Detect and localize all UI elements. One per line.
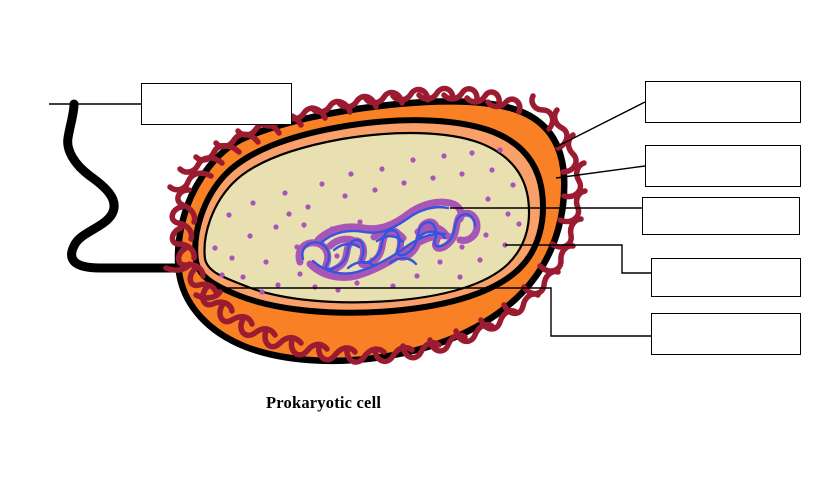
prokaryotic-cell-illustration — [0, 0, 835, 496]
label-box-flagellum[interactable] — [141, 83, 292, 125]
label-box-capsule[interactable] — [645, 145, 801, 187]
label-box-cell-wall[interactable] — [651, 258, 801, 297]
label-box-nucleoid[interactable] — [642, 197, 800, 235]
leader-pili — [556, 102, 645, 147]
label-box-cytoplasm[interactable] — [651, 313, 801, 355]
diagram-canvas: Prokaryotic cell — [0, 0, 835, 496]
label-box-pili[interactable] — [645, 81, 801, 123]
figure-caption: Prokaryotic cell — [266, 393, 381, 413]
